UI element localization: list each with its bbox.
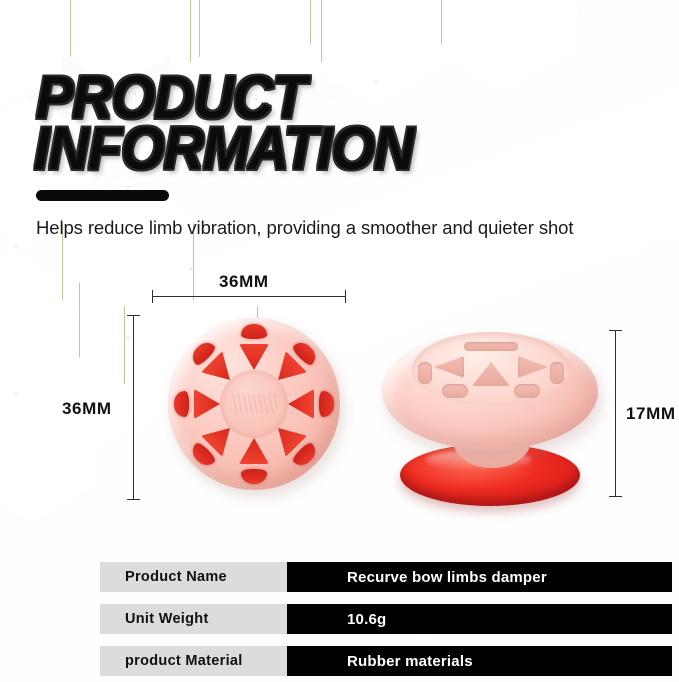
dimension-tick bbox=[127, 315, 140, 316]
dimension-label-depth: 17MM bbox=[626, 404, 676, 424]
damper-top-face bbox=[412, 332, 570, 406]
spec-key-product-material: product Material bbox=[100, 646, 287, 676]
table-row: Unit Weight 10.6g bbox=[100, 604, 672, 634]
dimension-tick bbox=[609, 330, 622, 331]
table-row: product Material Rubber materials bbox=[100, 646, 672, 676]
dimension-line-width bbox=[152, 296, 346, 297]
spec-value-product-material: Rubber materials bbox=[287, 646, 672, 676]
spec-value-unit-weight: 10.6g bbox=[287, 604, 672, 634]
product-photo-area: 36MM 36MM 17MM bbox=[0, 300, 679, 530]
title-underline-bar bbox=[36, 190, 169, 201]
front-view-damper bbox=[168, 318, 340, 490]
dimension-tick bbox=[127, 499, 140, 500]
product-information-page: PRODUCT INFORMATION Helps reduce limb vi… bbox=[0, 0, 679, 682]
page-subtitle: Helps reduce limb vibration, providing a… bbox=[36, 217, 573, 239]
side-view-damper bbox=[374, 324, 602, 509]
embossed-logo bbox=[231, 394, 277, 414]
spec-table: Product Name Recurve bow limbs damper Un… bbox=[100, 562, 672, 682]
table-row: Product Name Recurve bow limbs damper bbox=[100, 562, 672, 592]
hexagon-shape bbox=[428, 0, 578, 92]
spec-key-product-name: Product Name bbox=[100, 562, 287, 592]
spec-value-product-name: Recurve bow limbs damper bbox=[287, 562, 672, 592]
dimension-tick bbox=[345, 290, 346, 303]
dimension-tick bbox=[609, 496, 622, 497]
spec-key-unit-weight: Unit Weight bbox=[100, 604, 287, 634]
dimension-tick bbox=[152, 290, 153, 303]
dimension-label-width: 36MM bbox=[219, 272, 269, 292]
dimension-label-height: 36MM bbox=[62, 399, 112, 419]
title-line-information: INFORMATION bbox=[34, 121, 413, 176]
dimension-line-depth bbox=[615, 330, 616, 497]
dimension-line-height bbox=[133, 315, 134, 500]
page-title: PRODUCT INFORMATION bbox=[36, 70, 442, 176]
